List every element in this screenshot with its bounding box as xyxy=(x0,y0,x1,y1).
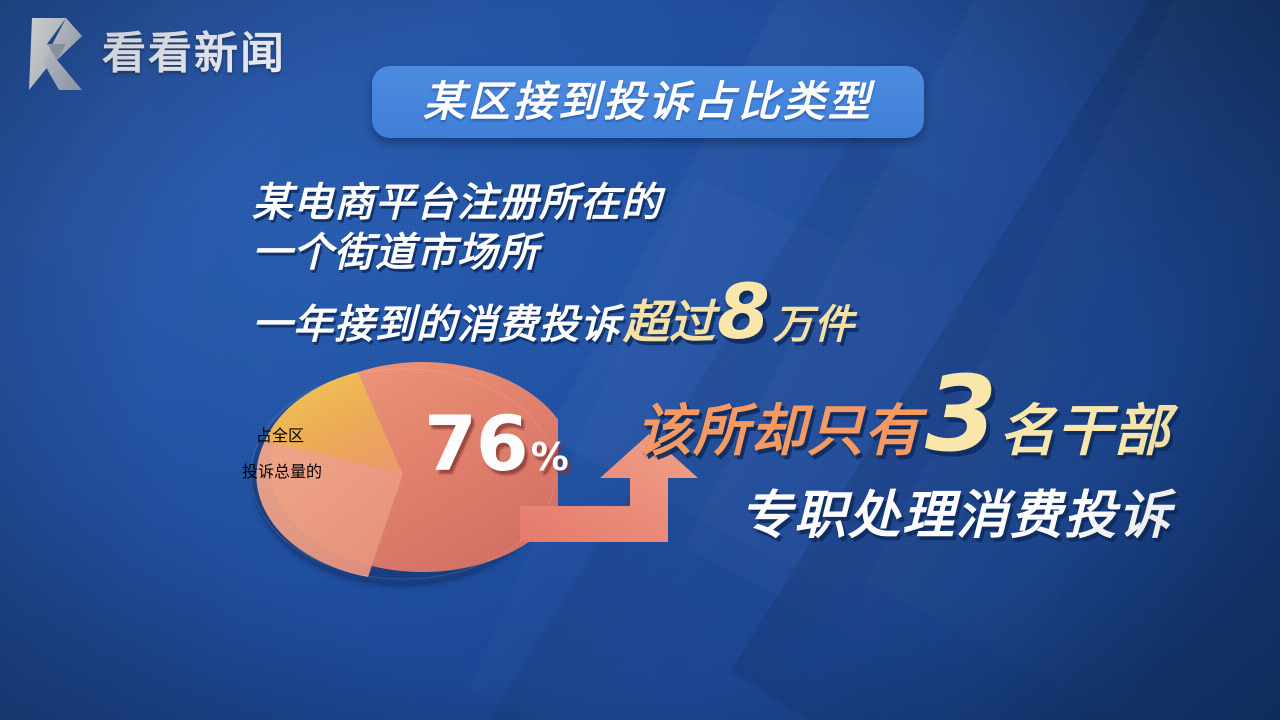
page-title: 某区接到投诉占比类型 xyxy=(423,81,873,123)
lede-highlight-number: 8 xyxy=(717,278,771,346)
callout-suffix: 名干部 xyxy=(999,386,1170,467)
lede-line-1: 某电商平台注册所在的 xyxy=(252,178,952,228)
callout-number: 3 xyxy=(925,372,997,457)
lede-highlight-post: 万件 xyxy=(773,300,855,350)
infographic-canvas: 看看新闻 某区接到投诉占比类型 某电商平台注册所在的 一个街道市场所 一年接到的… xyxy=(0,0,1280,720)
lede-paragraph: 某电商平台注册所在的 一个街道市场所 一年接到的消费投诉 超过 8 万件 xyxy=(252,178,952,350)
lede-line-2: 一个街道市场所 xyxy=(252,228,952,278)
pie-percentage-value: 76 xyxy=(424,410,528,478)
brand-name: 看看新闻 xyxy=(102,32,286,76)
lede-highlight-pre: 超过 xyxy=(623,297,715,347)
callout-line-2: 专职处理消费投诉 xyxy=(740,473,1276,548)
callout-line-1: 该所却只有 3 名干部 xyxy=(636,372,1276,467)
callout-block: 该所却只有 3 名干部 专职处理消费投诉 xyxy=(636,372,1276,548)
pie-chart: 占全区 投诉总量的 76 % xyxy=(248,362,558,586)
callout-prefix: 该所却只有 xyxy=(636,386,921,467)
kankan-k-mark-icon xyxy=(26,16,88,92)
brand-logo: 看看新闻 xyxy=(26,16,286,92)
lede-line-3: 一年接到的消费投诉 超过 8 万件 xyxy=(252,278,952,350)
title-banner: 某区接到投诉占比类型 xyxy=(372,66,924,138)
lede-line-3-prefix: 一年接到的消费投诉 xyxy=(252,300,621,350)
